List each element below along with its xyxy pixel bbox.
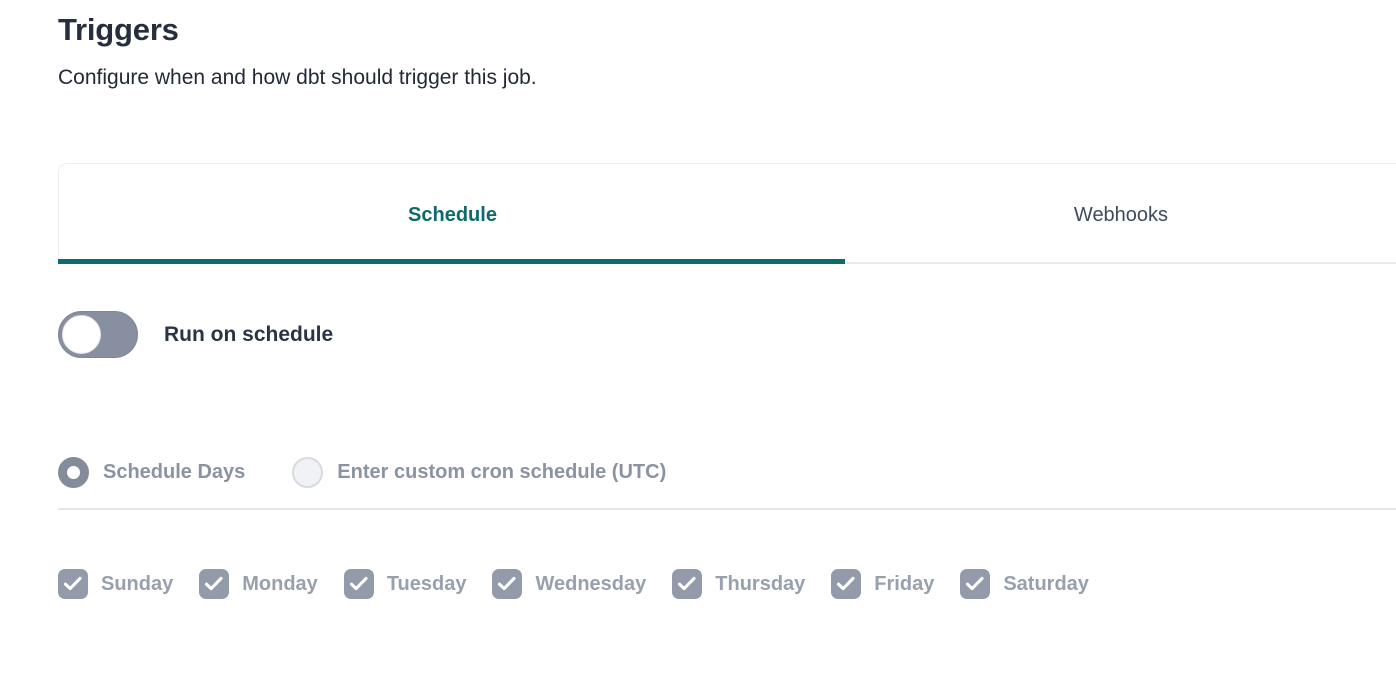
day-checkbox-wednesday[interactable]: Wednesday [492, 569, 646, 599]
day-label-wednesday: Wednesday [535, 573, 646, 596]
tab-strip: Schedule Webhooks [59, 164, 1396, 266]
toggle-knob [62, 315, 101, 354]
run-on-schedule-label: Run on schedule [164, 323, 333, 347]
day-checkbox-thursday[interactable]: Thursday [672, 569, 805, 599]
run-on-schedule-row: Run on schedule [58, 311, 333, 358]
radio-schedule-days[interactable]: Schedule Days [58, 457, 245, 488]
day-label-friday: Friday [874, 573, 934, 596]
check-icon [344, 569, 374, 599]
check-icon [960, 569, 990, 599]
day-label-saturday: Saturday [1003, 573, 1089, 596]
tab-webhooks[interactable]: Webhooks [846, 164, 1396, 266]
check-icon [672, 569, 702, 599]
day-checkbox-sunday[interactable]: Sunday [58, 569, 173, 599]
day-label-sunday: Sunday [101, 573, 173, 596]
page-header: Triggers Configure when and how dbt shou… [58, 10, 1358, 92]
schedule-days-group: Sunday Monday Tuesday Wednesday Thursday [58, 569, 1089, 599]
day-checkbox-friday[interactable]: Friday [831, 569, 934, 599]
radio-unselected-icon [292, 457, 323, 488]
radio-selected-icon [58, 457, 89, 488]
triggers-tab-card: Schedule Webhooks [58, 163, 1396, 266]
day-label-thursday: Thursday [715, 573, 805, 596]
radio-custom-cron-label: Enter custom cron schedule (UTC) [337, 461, 666, 484]
day-label-tuesday: Tuesday [387, 573, 467, 596]
tab-schedule-label: Schedule [408, 204, 497, 227]
check-icon [492, 569, 522, 599]
tab-webhooks-label: Webhooks [1074, 204, 1168, 227]
section-divider [58, 508, 1396, 510]
day-checkbox-tuesday[interactable]: Tuesday [344, 569, 467, 599]
check-icon [58, 569, 88, 599]
day-checkbox-monday[interactable]: Monday [199, 569, 318, 599]
run-on-schedule-toggle[interactable] [58, 311, 138, 358]
day-checkbox-saturday[interactable]: Saturday [960, 569, 1089, 599]
page-subtitle: Configure when and how dbt should trigge… [58, 50, 1358, 92]
check-icon [199, 569, 229, 599]
page-title: Triggers [58, 10, 1358, 50]
day-label-monday: Monday [242, 573, 318, 596]
tab-active-indicator [58, 259, 845, 264]
check-icon [831, 569, 861, 599]
radio-dot [67, 466, 80, 479]
radio-schedule-days-label: Schedule Days [103, 461, 245, 484]
schedule-mode-radio-group: Schedule Days Enter custom cron schedule… [58, 457, 666, 488]
triggers-page: Triggers Configure when and how dbt shou… [0, 0, 1396, 680]
radio-custom-cron[interactable]: Enter custom cron schedule (UTC) [292, 457, 666, 488]
tab-schedule[interactable]: Schedule [59, 164, 846, 266]
